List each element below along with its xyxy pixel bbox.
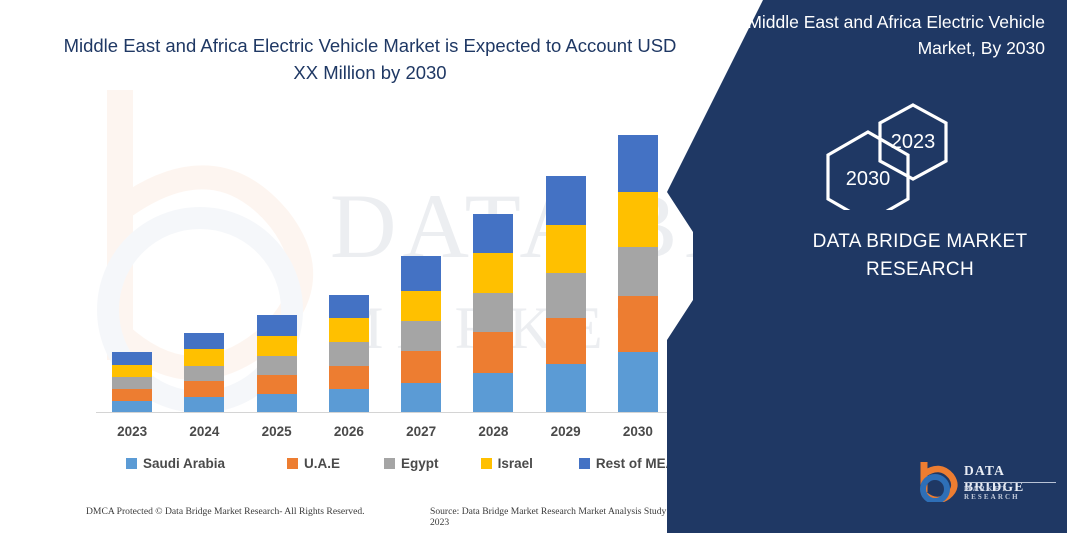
x-axis-label-2023: 2023: [102, 424, 162, 439]
bar-segment-rest-of-mea: [401, 256, 441, 290]
bar-segment-egypt: [546, 273, 586, 318]
bar-2029[interactable]: [546, 176, 586, 413]
legend-swatch-icon: [579, 458, 590, 469]
bar-segment-egypt: [184, 366, 224, 381]
chart-title: Middle East and Africa Electric Vehicle …: [60, 33, 680, 87]
legend-item-saudi-arabia[interactable]: Saudi Arabia: [126, 456, 225, 471]
bar-segment-u-a-e: [257, 375, 297, 394]
bar-segment-u-a-e: [618, 296, 658, 353]
bar-segment-saudi-arabia: [546, 364, 586, 414]
chart-plot-area: [96, 120, 674, 413]
bar-2030[interactable]: [618, 135, 658, 413]
x-axis-label-2027: 2027: [391, 424, 451, 439]
bar-segment-u-a-e: [546, 318, 586, 363]
legend-swatch-icon: [287, 458, 298, 469]
x-axis-label-2025: 2025: [247, 424, 307, 439]
footer-source: Source: Data Bridge Market Research Mark…: [430, 506, 686, 528]
legend-label: Saudi Arabia: [143, 456, 225, 471]
footer-copyright: DMCA Protected © Data Bridge Market Rese…: [86, 506, 365, 517]
bar-segment-saudi-arabia: [618, 352, 658, 413]
bar-segment-egypt: [618, 247, 658, 295]
bar-segment-u-a-e: [184, 381, 224, 397]
legend-swatch-icon: [384, 458, 395, 469]
bar-segment-egypt: [401, 321, 441, 351]
bar-2027[interactable]: [401, 256, 441, 413]
bar-segment-u-a-e: [112, 389, 152, 401]
bar-segment-israel: [618, 192, 658, 248]
hexagon-2030-label: 2030: [846, 168, 891, 190]
legend-label: Egypt: [401, 456, 439, 471]
bar-segment-israel: [473, 253, 513, 292]
x-axis-label-2030: 2030: [608, 424, 668, 439]
logo-divider: [964, 482, 1056, 483]
chart-x-axis-labels: 20232024202520262027202820292030: [96, 424, 674, 446]
bar-segment-israel: [112, 365, 152, 377]
bar-segment-israel: [184, 349, 224, 365]
legend-item-u-a-e[interactable]: U.A.E: [287, 456, 340, 471]
legend-label: Rest of MEA: [596, 456, 676, 471]
footer: DMCA Protected © Data Bridge Market Rese…: [86, 506, 686, 520]
bar-segment-u-a-e: [473, 332, 513, 372]
legend-label: Israel: [498, 456, 533, 471]
chart-axis-line: [96, 412, 674, 413]
bar-2028[interactable]: [473, 214, 513, 413]
bar-segment-rest-of-mea: [112, 352, 152, 364]
right-panel-title: Middle East and Africa Electric Vehicle …: [723, 9, 1045, 62]
chart-legend: Saudi ArabiaU.A.EEgyptIsraelRest of MEA: [126, 453, 650, 473]
x-axis-label-2029: 2029: [536, 424, 596, 439]
legend-swatch-icon: [126, 458, 137, 469]
legend-label: U.A.E: [304, 456, 340, 471]
bar-segment-u-a-e: [401, 351, 441, 382]
bar-segment-israel: [329, 318, 369, 342]
logo-subtitle: MARKET RESEARCH: [964, 485, 1058, 501]
legend-item-israel[interactable]: Israel: [481, 456, 533, 471]
bar-2026[interactable]: [329, 295, 369, 413]
logo-mark-icon: [912, 458, 960, 502]
bar-segment-saudi-arabia: [184, 397, 224, 413]
bar-2025[interactable]: [257, 315, 297, 413]
legend-item-rest-of-mea[interactable]: Rest of MEA: [579, 456, 676, 471]
x-axis-label-2024: 2024: [174, 424, 234, 439]
bar-2023[interactable]: [112, 352, 152, 413]
bar-segment-rest-of-mea: [473, 214, 513, 253]
infographic-canvas: DATA BRIDGE MARKET RESEARCH Middle East …: [0, 0, 1067, 533]
bar-segment-u-a-e: [329, 366, 369, 389]
hexagon-2023-label: 2023: [891, 131, 936, 153]
bar-segment-rest-of-mea: [329, 295, 369, 318]
bar-segment-rest-of-mea: [546, 176, 586, 226]
data-bridge-logo: DATA BRIDGE MARKET RESEARCH: [912, 458, 1058, 504]
bar-segment-saudi-arabia: [473, 373, 513, 413]
bar-segment-rest-of-mea: [257, 315, 297, 336]
bar-2024[interactable]: [184, 333, 224, 413]
bar-segment-egypt: [329, 342, 369, 365]
legend-swatch-icon: [481, 458, 492, 469]
x-axis-label-2026: 2026: [319, 424, 379, 439]
bar-segment-egypt: [257, 356, 297, 374]
bar-segment-israel: [257, 336, 297, 356]
bar-segment-egypt: [112, 377, 152, 389]
bar-segment-saudi-arabia: [401, 383, 441, 413]
bar-segment-saudi-arabia: [329, 389, 369, 413]
bar-segment-israel: [401, 291, 441, 321]
bar-segment-israel: [546, 225, 586, 272]
hexagon-badges: 2023 2030: [818, 95, 1018, 210]
legend-item-egypt[interactable]: Egypt: [384, 456, 439, 471]
bar-segment-rest-of-mea: [184, 333, 224, 349]
bar-segment-rest-of-mea: [618, 135, 658, 192]
bar-segment-saudi-arabia: [257, 394, 297, 413]
brand-name: DATA BRIDGE MARKET RESEARCH: [790, 228, 1050, 283]
x-axis-label-2028: 2028: [463, 424, 523, 439]
bar-segment-egypt: [473, 293, 513, 332]
